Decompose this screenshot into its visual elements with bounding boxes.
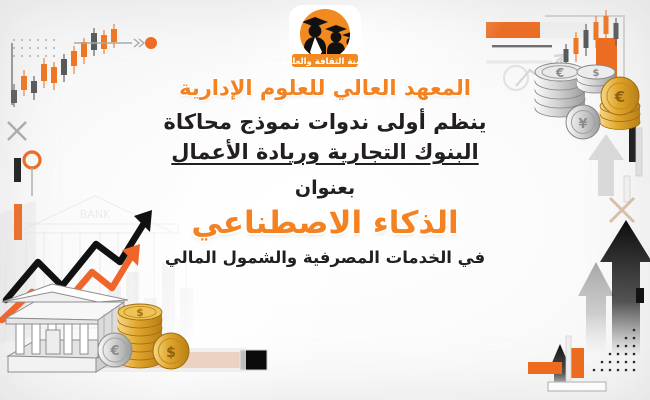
- orange-bar-end-cap: [240, 350, 267, 370]
- tail-line: في الخدمات المصرفية والشمول المالي: [165, 250, 485, 267]
- titled-label: بعنوان: [295, 179, 355, 198]
- institute-logo: مدينة الثقافة والعلوم: [270, 4, 380, 72]
- background-bar-chart: [108, 262, 193, 338]
- logo-badge-text: مدينة الثقافة والعلوم: [281, 57, 370, 67]
- subtitle-line-2: البنوك التجارية وريادة الأعمال: [171, 142, 478, 163]
- poster-content: مدينة الثقافة والعلوم المعهد العالي للعل…: [0, 0, 650, 267]
- institute-name: المعهد العالي للعلوم الإدارية: [179, 78, 471, 99]
- main-title: الذكاء الاصطناعي: [191, 208, 458, 239]
- dot-triangle-pattern: [593, 329, 636, 372]
- bar-shadow: [16, 348, 246, 372]
- coin-symbol-dollar: $: [136, 306, 144, 319]
- orange-progress-bar: [40, 352, 240, 368]
- bank-building-icon: [2, 284, 128, 372]
- coin-symbol-dollar: $: [166, 345, 176, 361]
- coin-stack-icon: $ € $: [98, 304, 189, 369]
- coin-symbol-euro: €: [109, 344, 119, 359]
- subtitle-line-1: ينظم أولى ندوات نموذج محاكاة: [164, 112, 487, 133]
- poster-canvas: BANK: [0, 0, 650, 400]
